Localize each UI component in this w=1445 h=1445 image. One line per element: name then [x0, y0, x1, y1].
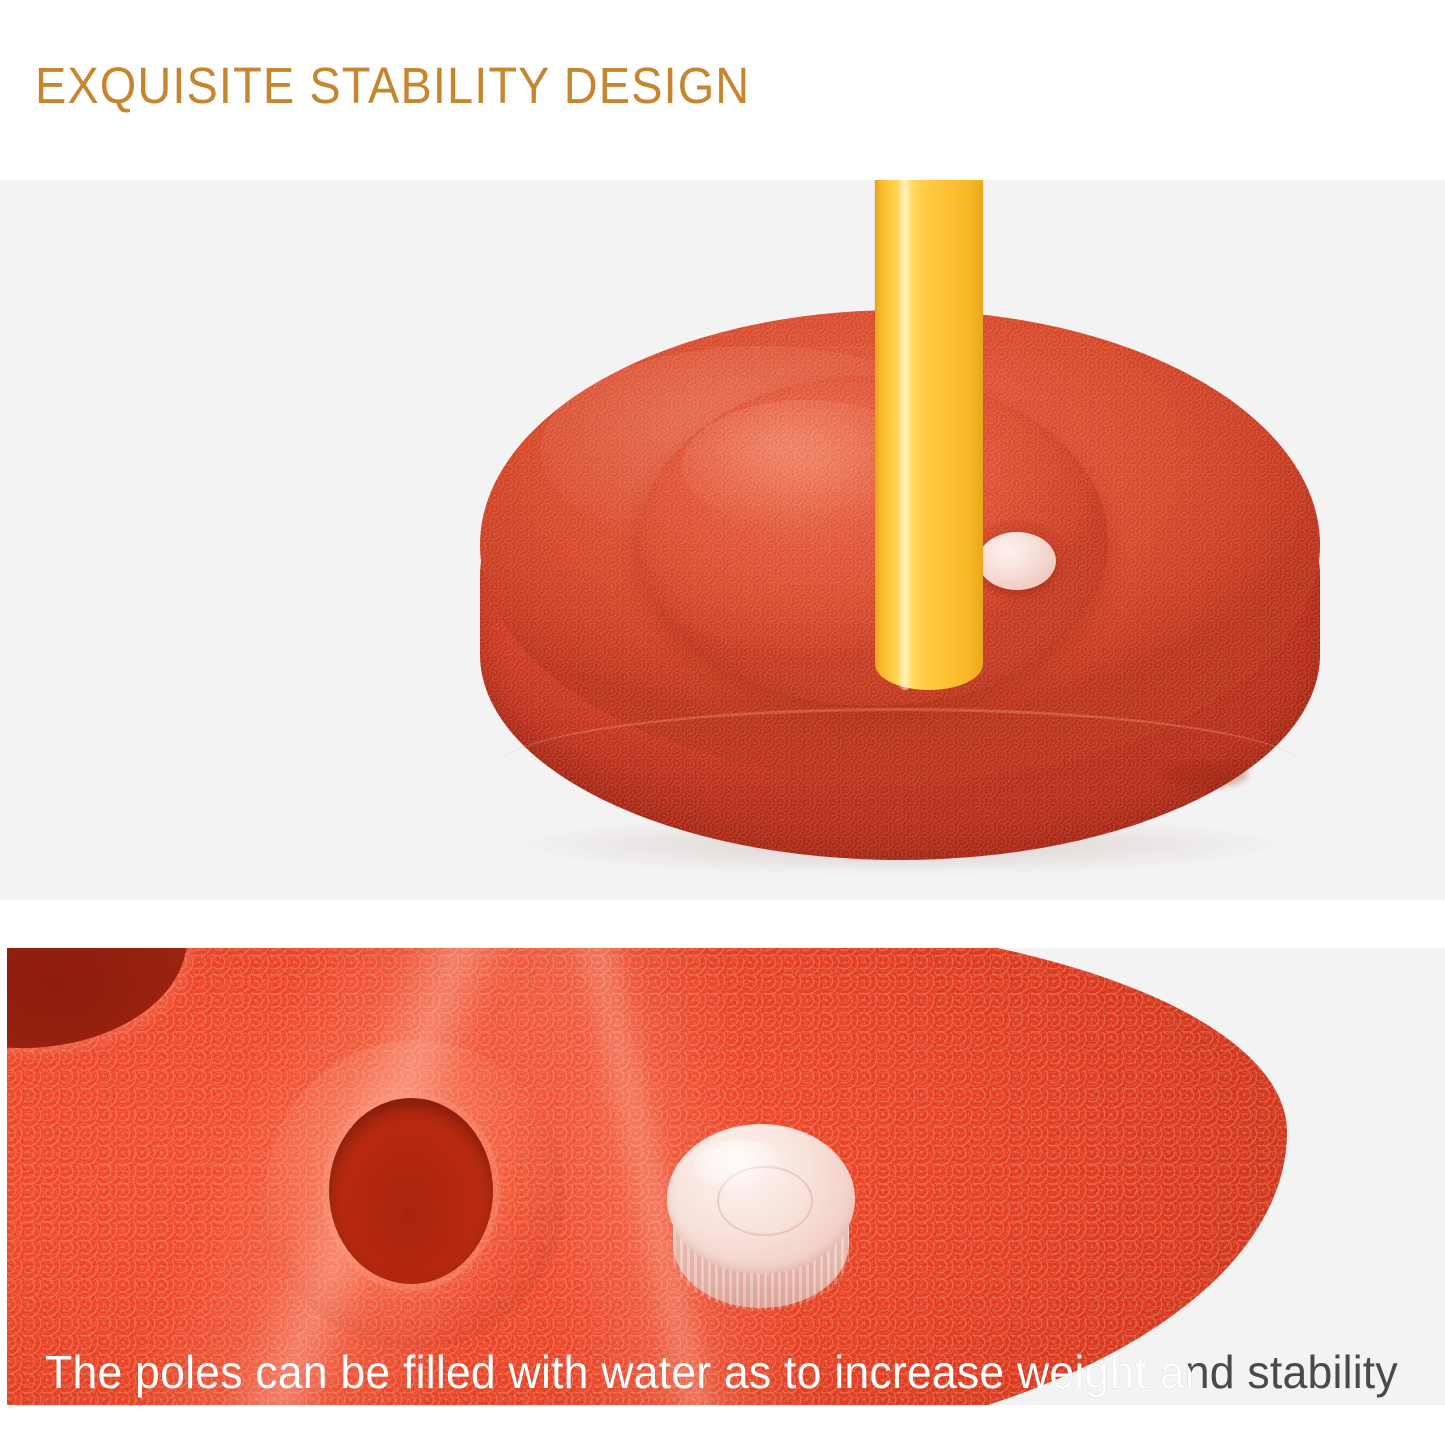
product-feature-image: EXQUISITE STABILITY DESIGN [0, 0, 1445, 1445]
pole-socket-hole [329, 1098, 493, 1284]
macro-closeup-photo: The poles can be filled with water as to… [7, 948, 1445, 1405]
base-rim-notch [1162, 762, 1248, 788]
water-fill-plug-cap [978, 532, 1056, 592]
water-fill-plug-cap [667, 1124, 855, 1312]
panel-divider [0, 900, 1445, 948]
hero-product-photo [0, 180, 1445, 900]
yellow-pole [875, 180, 983, 690]
plug-cap-gloss-highlight [693, 1140, 789, 1192]
plug-cap-face [978, 532, 1056, 590]
page-title: EXQUISITE STABILITY DESIGN [35, 58, 750, 114]
header-band: EXQUISITE STABILITY DESIGN [0, 0, 1445, 180]
